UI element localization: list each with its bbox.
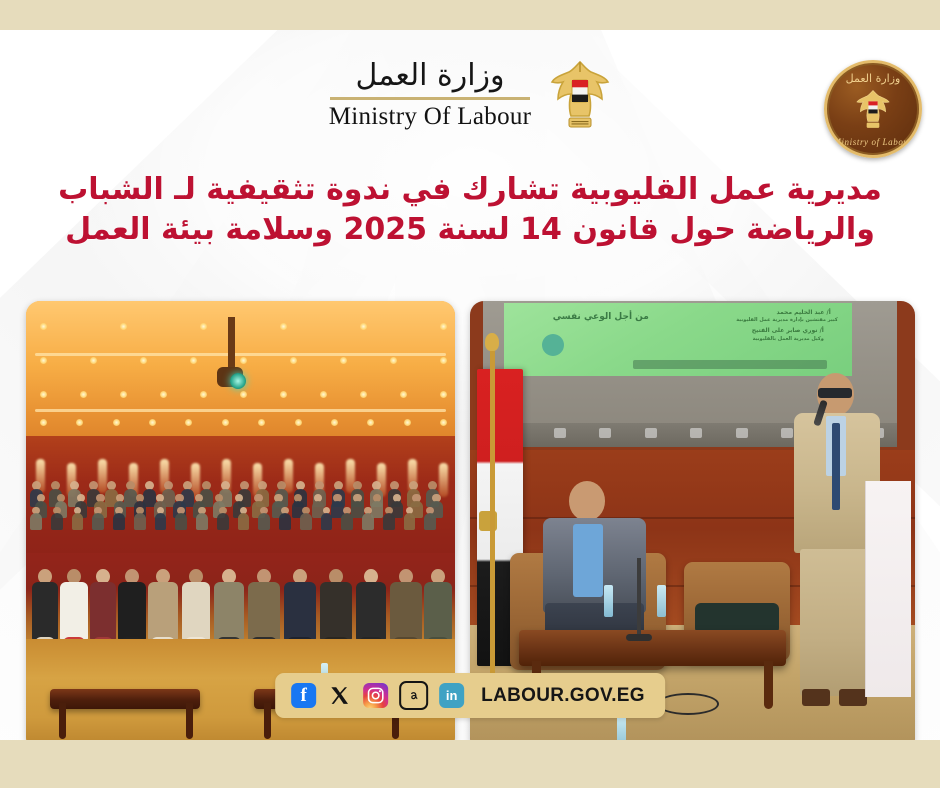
screen-line-2: كبير مفتشين بإدارة مديرية عمل القليوبية bbox=[736, 317, 838, 323]
social-bar: f in LABOUR.GO bbox=[275, 673, 665, 718]
screen-slogan: من أجل الوعي نفسي bbox=[553, 312, 649, 322]
website-url[interactable]: LABOUR.GOV.EG bbox=[481, 685, 645, 707]
linkedin-icon[interactable]: in bbox=[439, 683, 464, 708]
ministry-seal-badge: وزارة العمل Ministry of Labour bbox=[824, 60, 922, 158]
facebook-icon[interactable]: f bbox=[291, 683, 316, 708]
ministry-name-arabic: وزارة العمل bbox=[355, 60, 504, 96]
page-title: مديرية عمل القليوبية تشارك في ندوة تثقيف… bbox=[40, 170, 900, 250]
linkedin-glyph: in bbox=[446, 688, 458, 703]
x-glyph bbox=[329, 685, 350, 706]
ministry-name-english: Ministry Of Labour bbox=[329, 103, 532, 131]
badge-arabic-label: وزارة العمل bbox=[827, 72, 919, 85]
egypt-eagle-emblem-icon bbox=[549, 56, 611, 136]
badge-english-label: Ministry of Labour bbox=[827, 137, 919, 147]
screen-line-4: وكيل مديرية العمل بالقليوبية bbox=[753, 336, 824, 342]
seated-official bbox=[541, 481, 648, 634]
x-twitter-icon[interactable] bbox=[327, 683, 352, 708]
poster-card: وزارة العمل Ministry Of Labour bbox=[0, 30, 940, 740]
poster-canvas: وزارة العمل Ministry Of Labour bbox=[0, 0, 940, 788]
badge-eagle-icon bbox=[853, 87, 893, 133]
facebook-glyph: f bbox=[300, 686, 306, 705]
roll-up-banner bbox=[865, 481, 911, 697]
threads-glyph bbox=[406, 688, 421, 703]
screen-line-3: أ/ نوري صابر على الفتيح bbox=[752, 327, 824, 334]
title-line-1: مديرية عمل القليوبية تشارك في ندوة تثقيف… bbox=[40, 170, 900, 210]
wordmark-divider bbox=[330, 97, 530, 100]
threads-icon[interactable] bbox=[399, 681, 428, 710]
projection-screen: أ/ عبد الحليم محمد كبير مفتشين بإدارة مد… bbox=[504, 303, 852, 376]
instagram-icon[interactable] bbox=[363, 683, 388, 708]
ministry-wordmark: وزارة العمل Ministry Of Labour bbox=[329, 60, 532, 132]
instagram-glyph bbox=[366, 686, 385, 705]
screen-line-1: أ/ عبد الحليم محمد bbox=[777, 309, 831, 316]
header: وزارة العمل Ministry Of Labour bbox=[0, 38, 940, 153]
title-line-2: والرياضة حول قانون 14 لسنة 2025 وسلامة ب… bbox=[40, 210, 900, 250]
